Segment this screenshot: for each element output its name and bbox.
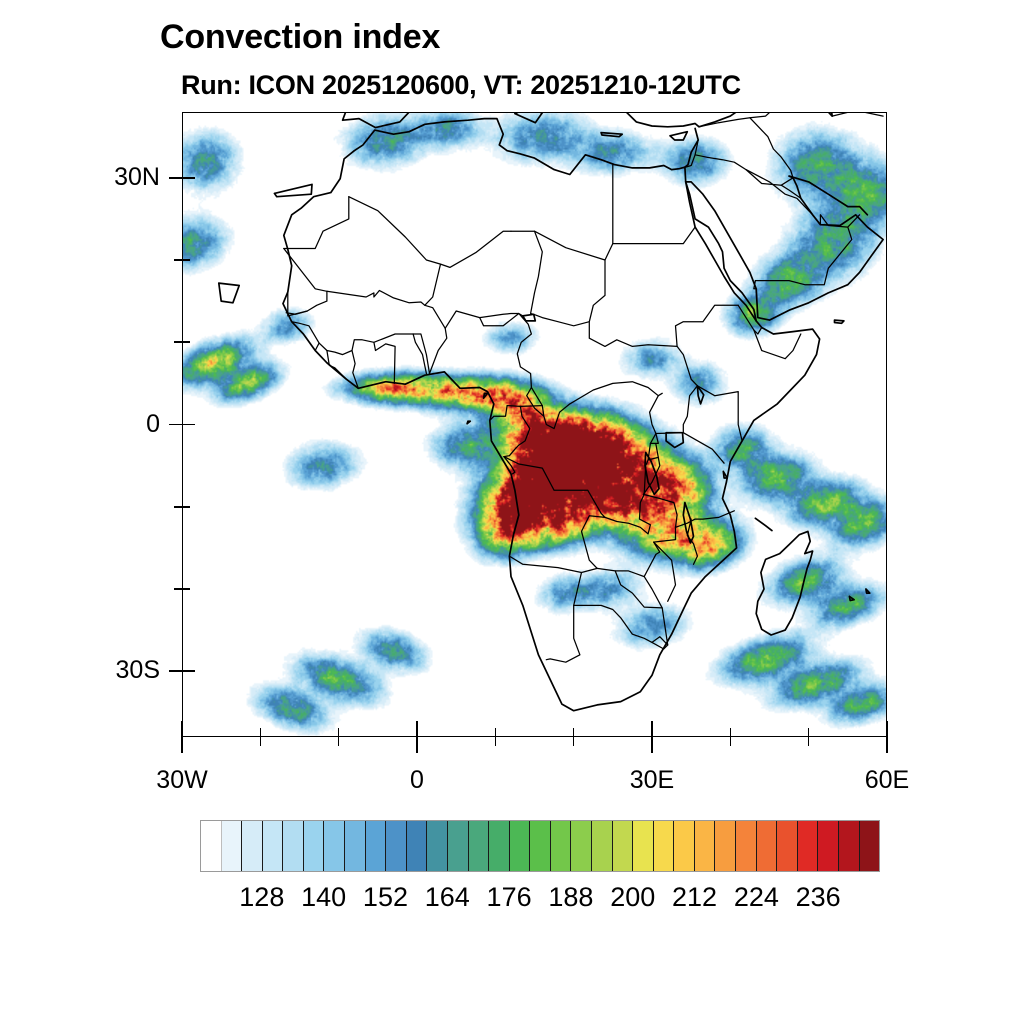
map-content bbox=[182, 112, 887, 737]
colorbar-cell bbox=[695, 821, 716, 871]
y-major-tick-inner bbox=[182, 670, 195, 672]
x-minor-tick-inner bbox=[730, 728, 732, 737]
x-minor-tick-inner bbox=[495, 728, 497, 737]
colorbar-cell bbox=[839, 821, 860, 871]
colorbar-cell bbox=[736, 821, 757, 871]
colorbar-cell bbox=[201, 821, 222, 871]
colorbar-cell bbox=[407, 821, 428, 871]
y-minor-tick bbox=[174, 588, 182, 590]
colorbar-cell bbox=[757, 821, 778, 871]
y-minor-tick bbox=[174, 259, 182, 261]
colorbar-cell bbox=[798, 821, 819, 871]
x-minor-tick bbox=[730, 737, 732, 746]
x-major-tick bbox=[181, 737, 183, 753]
convection-index-map-figure: Convection index Run: ICON 2025120600, V… bbox=[0, 0, 1024, 1024]
colorbar-cell bbox=[242, 821, 263, 871]
x-major-tick-inner bbox=[651, 721, 653, 737]
colorbar-cell bbox=[283, 821, 304, 871]
country-border bbox=[507, 406, 542, 407]
x-axis-label: 30W bbox=[102, 766, 262, 795]
y-major-tick bbox=[169, 177, 182, 179]
y-minor-tick bbox=[174, 506, 182, 508]
page-title: Convection index bbox=[160, 18, 440, 57]
colorbar bbox=[200, 820, 880, 872]
y-axis-label: 30N bbox=[32, 163, 160, 192]
colorbar-cell bbox=[366, 821, 387, 871]
x-major-tick bbox=[886, 737, 888, 753]
colorbar-cell bbox=[715, 821, 736, 871]
x-minor-tick-inner bbox=[573, 728, 575, 737]
y-minor-tick-inner bbox=[182, 506, 190, 508]
colorbar-tick-label: 200 bbox=[610, 882, 655, 913]
y-major-tick-inner bbox=[182, 424, 195, 426]
colorbar-cell bbox=[571, 821, 592, 871]
x-major-tick-inner bbox=[886, 721, 888, 737]
colorbar-cell bbox=[489, 821, 510, 871]
y-major-tick bbox=[169, 424, 182, 426]
colorbar-cell bbox=[448, 821, 469, 871]
y-major-tick bbox=[169, 670, 182, 672]
colorbar-cell bbox=[777, 821, 798, 871]
colorbar-cell bbox=[818, 821, 839, 871]
colorbar-cell bbox=[633, 821, 654, 871]
colorbar-cell bbox=[860, 821, 880, 871]
x-minor-tick bbox=[573, 737, 575, 746]
x-major-tick-inner bbox=[416, 721, 418, 737]
x-major-tick bbox=[416, 737, 418, 753]
y-minor-tick-inner bbox=[182, 341, 190, 343]
x-minor-tick-inner bbox=[338, 728, 340, 737]
colorbar-cell bbox=[263, 821, 284, 871]
map-canvas bbox=[182, 112, 887, 737]
colorbar-tick-label: 164 bbox=[425, 882, 470, 913]
colorbar-cell bbox=[510, 821, 531, 871]
x-minor-tick bbox=[808, 737, 810, 746]
colorbar-tick-label: 188 bbox=[548, 882, 593, 913]
colorbar-cell bbox=[427, 821, 448, 871]
x-axis-label: 0 bbox=[337, 766, 497, 795]
colorbar-cell bbox=[654, 821, 675, 871]
y-minor-tick-inner bbox=[182, 588, 190, 590]
y-minor-tick bbox=[174, 341, 182, 343]
x-minor-tick bbox=[495, 737, 497, 746]
colorbar-tick-labels: 128140152164176188200212224236 bbox=[200, 882, 880, 916]
map-plot-area bbox=[182, 112, 887, 737]
colorbar-cell bbox=[304, 821, 325, 871]
y-minor-tick-inner bbox=[182, 259, 190, 261]
x-minor-tick bbox=[260, 737, 262, 746]
y-axis-label: 30S bbox=[32, 656, 160, 685]
colorbar-cell bbox=[530, 821, 551, 871]
x-axis-label: 60E bbox=[807, 766, 967, 795]
colorbar-cell bbox=[613, 821, 634, 871]
x-minor-tick-inner bbox=[260, 728, 262, 737]
colorbar-cell bbox=[222, 821, 243, 871]
colorbar-cell bbox=[551, 821, 572, 871]
colorbar-cell bbox=[345, 821, 366, 871]
x-major-tick bbox=[651, 737, 653, 753]
x-minor-tick-inner bbox=[808, 728, 810, 737]
colorbar-tick-label: 128 bbox=[239, 882, 284, 913]
x-axis-label: 30E bbox=[572, 766, 732, 795]
colorbar-tick-label: 212 bbox=[672, 882, 717, 913]
x-major-tick-inner bbox=[181, 721, 183, 737]
colorbar-tick-label: 152 bbox=[363, 882, 408, 913]
colorbar-cell bbox=[469, 821, 490, 871]
colorbar-tick-label: 140 bbox=[301, 882, 346, 913]
colorbar-cell bbox=[674, 821, 695, 871]
colorbar-tick-label: 176 bbox=[487, 882, 532, 913]
colorbar-tick-label: 236 bbox=[796, 882, 841, 913]
y-major-tick-inner bbox=[182, 177, 195, 179]
colorbar-cell bbox=[324, 821, 345, 871]
colorbar-cell bbox=[592, 821, 613, 871]
colorbar-tick-label: 224 bbox=[734, 882, 779, 913]
x-minor-tick bbox=[338, 737, 340, 746]
colorbar-cell bbox=[386, 821, 407, 871]
run-valid-time-subtitle: Run: ICON 2025120600, VT: 20251210-12UTC bbox=[181, 70, 741, 101]
y-axis-label: 0 bbox=[32, 410, 160, 439]
